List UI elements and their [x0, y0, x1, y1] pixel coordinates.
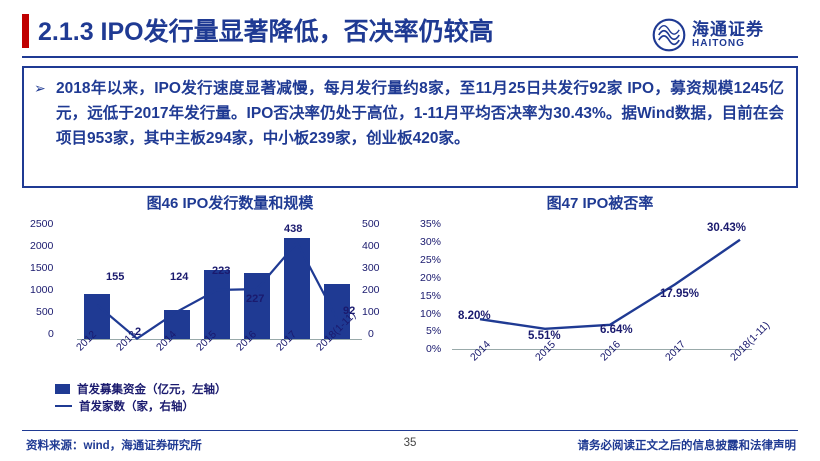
chart-left-legend: 首发募集资金（亿元，左轴） 首发家数（家，右轴） [55, 380, 355, 414]
disclaimer-note: 请务必阅读正文之后的信息披露和法律声明 [578, 437, 797, 453]
bullet-arrow-icon: ➢ [34, 76, 50, 151]
data-label-2017: 17.95% [660, 288, 699, 300]
data-label-2016: 227 [246, 293, 264, 305]
data-label-2015: 223 [212, 265, 230, 277]
haitong-logo-icon [652, 18, 686, 52]
callout-box: ➢ 2018年以来，IPO发行速度显著减慢，每月发行量约8家，至11月25日共发… [22, 66, 798, 188]
chart-ipo-rejection-rate: 35% 30% 25% 20% 15% 10% 5% 0% 8.20% 5.51… [410, 212, 800, 432]
data-label-2015: 5.51% [528, 330, 561, 342]
callout-text: 2018年以来，IPO发行速度显著减慢，每月发行量约8家，至11月25日共发行9… [56, 76, 784, 151]
footer-divider [22, 430, 798, 431]
legend-item-line: 首发家数（家，右轴） [55, 397, 355, 414]
title-accent-bar [22, 14, 29, 48]
chart-left-title: 图46 IPO发行数量和规模 [80, 192, 380, 213]
company-logo: 海通证券 HAITONG [652, 14, 802, 56]
page-number: 35 [404, 437, 417, 449]
logo-text-en: HAITONG [692, 39, 764, 50]
legend-item-bars: 首发募集资金（亿元，左轴） [55, 380, 355, 397]
legend-swatch-bar-icon [55, 384, 70, 394]
source-note: 资料来源：wind，海通证券研究所 [26, 437, 202, 453]
line-series-rejection-rate [410, 212, 800, 432]
legend-label-line: 首发家数（家，右轴） [79, 398, 194, 414]
chart-right-title: 图47 IPO被否率 [450, 192, 750, 213]
page-title: 2.1.3 IPO发行量显著降低，否决率仍较高 [38, 12, 494, 48]
legend-swatch-line-icon [55, 405, 72, 407]
data-label-2014: 8.20% [458, 310, 491, 322]
slide: 2.1.3 IPO发行量显著降低，否决率仍较高 海通证券 HAITONG ➢ 2… [0, 0, 820, 461]
data-label-2017: 438 [284, 223, 302, 235]
data-label-2018: 30.43% [707, 222, 746, 234]
legend-label-bars: 首发募集资金（亿元，左轴） [77, 381, 227, 397]
data-label-2012: 155 [106, 271, 124, 283]
data-label-2016: 6.64% [600, 324, 633, 336]
header: 2.1.3 IPO发行量显著降低，否决率仍较高 海通证券 HAITONG [0, 8, 820, 54]
data-label-2014: 124 [170, 271, 188, 283]
header-divider [22, 56, 798, 58]
logo-text-cn: 海通证券 [692, 21, 764, 39]
